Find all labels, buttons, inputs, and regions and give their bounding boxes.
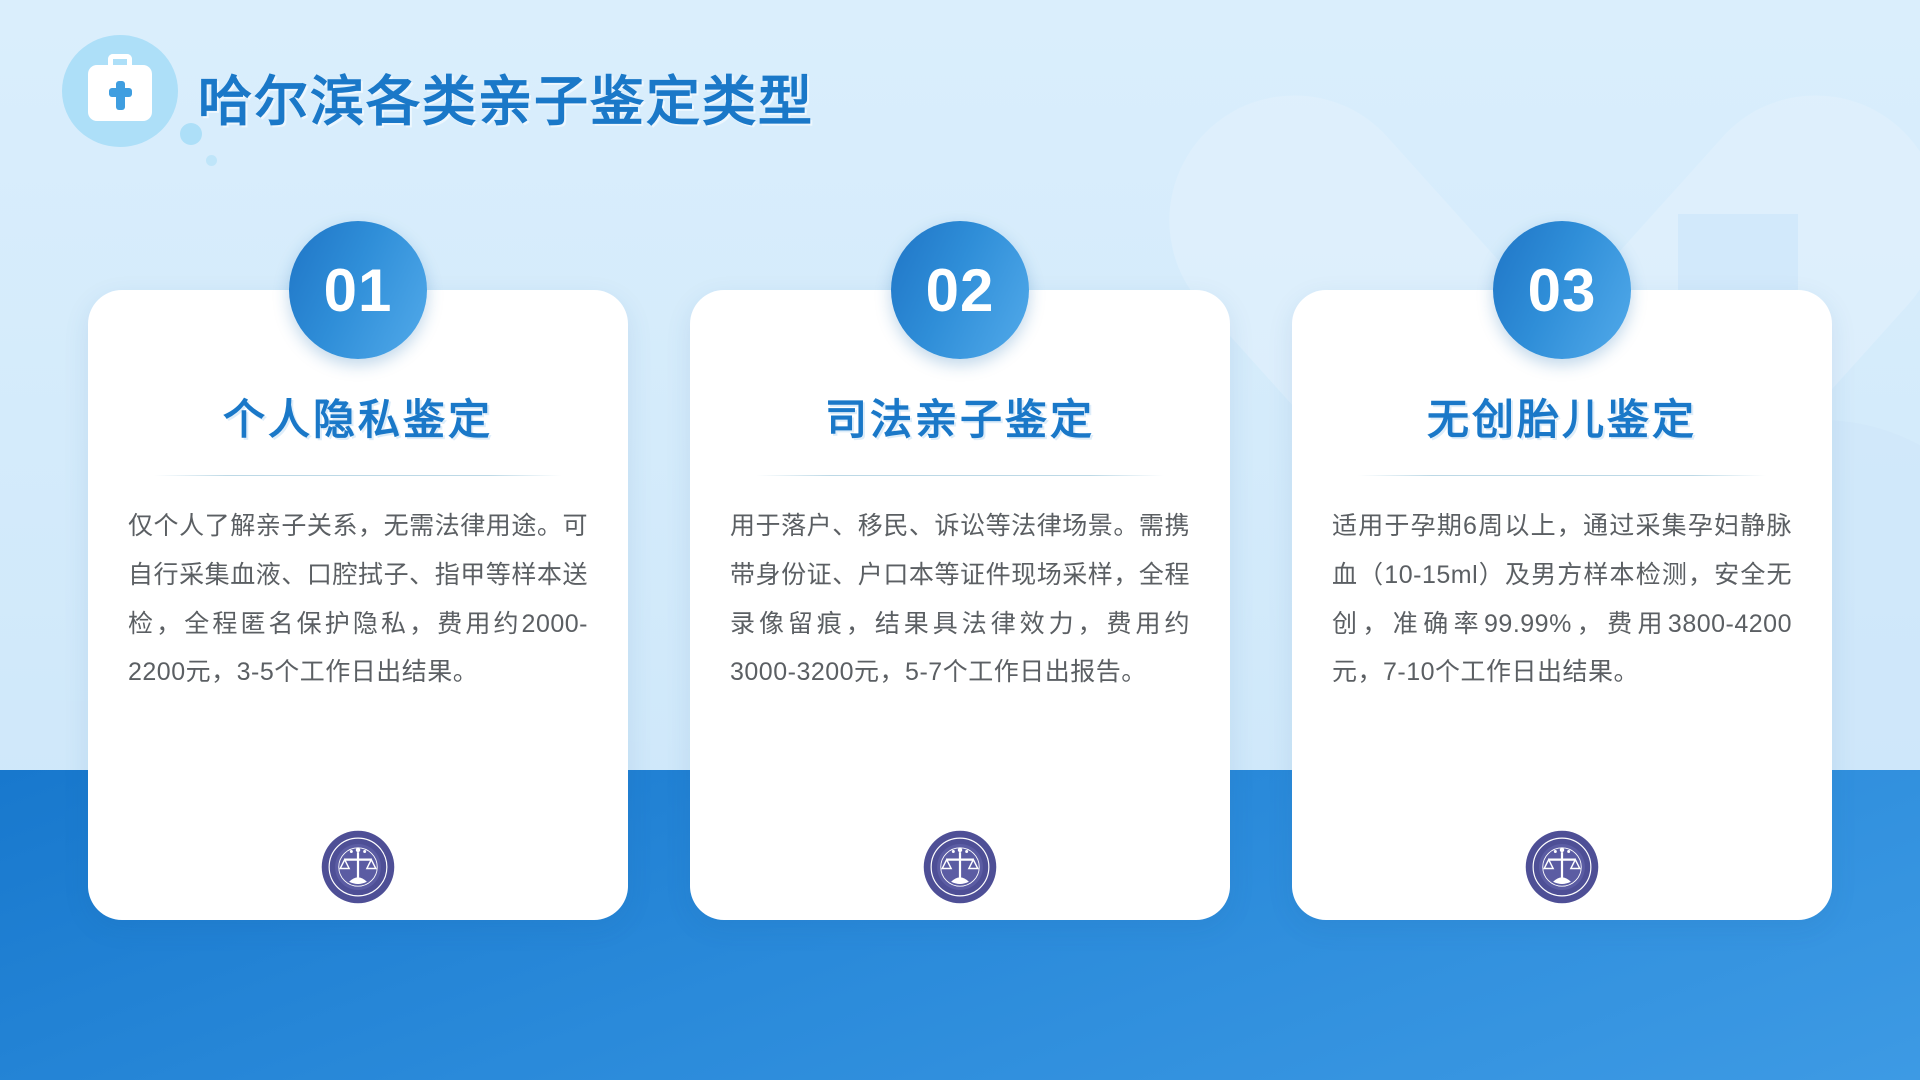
page-header: 哈尔滨各类亲子鉴定类型 [62, 36, 814, 156]
justice-scales-seal-icon [923, 830, 997, 904]
card-title: 司法亲子鉴定 [730, 386, 1190, 447]
type-card: 03 无创胎儿鉴定 适用于孕期6周以上，通过采集孕妇静脉血（10-15ml）及男… [1292, 290, 1832, 920]
page-title: 哈尔滨各类亲子鉴定类型 [198, 57, 814, 136]
card-divider [154, 475, 562, 476]
type-card: 02 司法亲子鉴定 用于落户、移民、诉讼等法律场景。需携带身份证、户口本等证件现… [690, 290, 1230, 920]
card-body-text: 用于落户、移民、诉讼等法律场景。需携带身份证、户口本等证件现场采样，全程录像留痕… [730, 502, 1190, 697]
justice-scales-seal-icon [321, 830, 395, 904]
card-number-badge: 02 [891, 221, 1029, 359]
card-number-badge: 01 [289, 221, 427, 359]
card-body-text: 适用于孕期6周以上，通过采集孕妇静脉血（10-15ml）及男方样本检测，安全无创… [1332, 502, 1792, 697]
card-number-badge: 03 [1493, 221, 1631, 359]
card-divider [1358, 475, 1766, 476]
card-title: 无创胎儿鉴定 [1332, 386, 1792, 447]
card-divider [756, 475, 1164, 476]
medical-briefcase-icon [88, 63, 152, 121]
type-card: 01 个人隐私鉴定 仅个人了解亲子关系，无需法律用途。可自行采集血液、口腔拭子、… [88, 290, 628, 920]
card-body-text: 仅个人了解亲子关系，无需法律用途。可自行采集血液、口腔拭子、指甲等样本送检，全程… [128, 502, 588, 697]
card-title: 个人隐私鉴定 [128, 386, 588, 447]
type-card-list: 01 个人隐私鉴定 仅个人了解亲子关系，无需法律用途。可自行采集血液、口腔拭子、… [0, 290, 1920, 920]
logo-mark [62, 35, 188, 157]
justice-scales-seal-icon [1525, 830, 1599, 904]
